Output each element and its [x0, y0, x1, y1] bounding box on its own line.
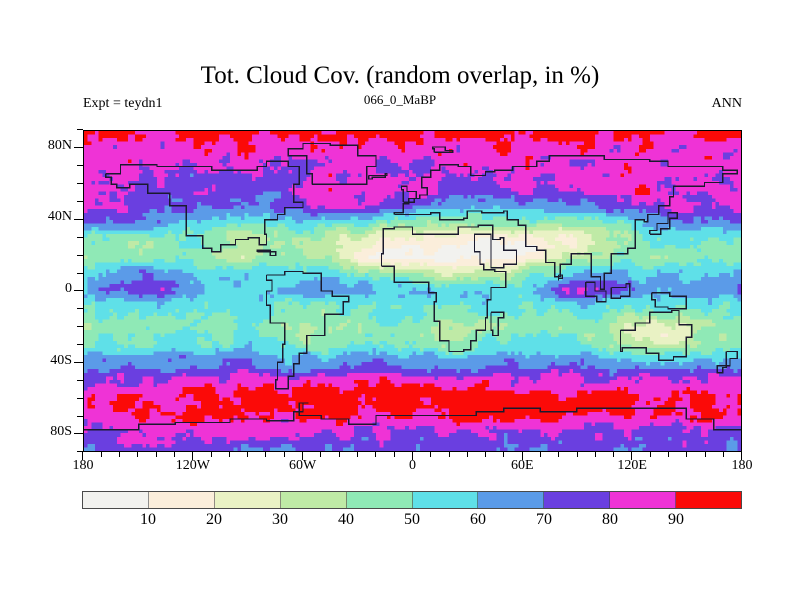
x-axis-minor-tick: [650, 452, 651, 457]
colorbar-tick-label: 70: [519, 511, 569, 529]
colorbar-tick-label: 60: [453, 511, 503, 529]
y-axis-minor-tick: [77, 255, 83, 256]
y-axis-tick-label: 80N: [26, 138, 72, 154]
colorbar-swatch-red: [676, 492, 741, 508]
x-axis-minor-tick: [668, 452, 669, 457]
x-axis-minor-tick: [723, 452, 724, 457]
x-axis-tick-label: 180: [707, 458, 777, 474]
x-axis-minor-tick: [540, 452, 541, 457]
x-axis-minor-tick: [211, 452, 212, 457]
colorbar-swatch-cream: [149, 492, 215, 508]
x-axis-minor-tick: [265, 452, 266, 457]
y-axis-minor-tick: [77, 165, 83, 166]
colorbar-swatch-pale-yellow-green: [215, 492, 281, 508]
y-axis-minor-tick: [77, 398, 83, 399]
y-axis-minor-tick: [77, 380, 83, 381]
y-axis-tick: [74, 433, 83, 434]
x-axis-minor-tick: [430, 452, 431, 457]
x-axis-minor-tick: [320, 452, 321, 457]
colorbar-tick-label: 50: [387, 511, 437, 529]
colorbar-swatch-blue: [478, 492, 544, 508]
y-axis-minor-tick: [77, 183, 83, 184]
y-axis-minor-tick: [77, 326, 83, 327]
colorbar-swatch-light-green: [281, 492, 347, 508]
x-axis-minor-tick: [577, 452, 578, 457]
y-axis-minor-tick: [77, 129, 83, 130]
y-axis-minor-tick: [77, 344, 83, 345]
x-axis-tick-label: 180: [48, 458, 118, 474]
x-axis-minor-tick: [558, 452, 559, 457]
colorbar-swatch-magenta: [610, 492, 676, 508]
x-axis-minor-tick: [686, 452, 687, 457]
x-axis-tick-label: 60E: [487, 458, 557, 474]
x-axis-minor-tick: [156, 452, 157, 457]
x-axis-minor-tick: [119, 452, 120, 457]
x-axis-tick-label: 120E: [597, 458, 667, 474]
x-axis-minor-tick: [339, 452, 340, 457]
colorbar-swatch-mint-green: [347, 492, 413, 508]
x-axis-minor-tick: [394, 452, 395, 457]
x-axis-minor-tick: [375, 452, 376, 457]
y-axis-tick-label: 40N: [26, 209, 72, 225]
y-axis-minor-tick: [77, 308, 83, 309]
colorbar-swatch-white: [83, 492, 149, 508]
x-axis-minor-tick: [174, 452, 175, 457]
x-axis-minor-tick: [229, 452, 230, 457]
x-axis-minor-tick: [101, 452, 102, 457]
colorbar-tick-label: 10: [123, 511, 173, 529]
x-axis-minor-tick: [137, 452, 138, 457]
x-axis-minor-tick: [503, 452, 504, 457]
y-axis-tick: [74, 219, 83, 220]
colorbar-tick-label: 30: [255, 511, 305, 529]
map-plot-area: [83, 130, 742, 452]
x-axis-minor-tick: [247, 452, 248, 457]
colorbar-swatch-cyan: [413, 492, 479, 508]
y-axis-minor-tick: [77, 416, 83, 417]
y-axis-minor-tick: [77, 273, 83, 274]
colorbar-tick-label: 90: [651, 511, 701, 529]
x-axis-tick-label: 60W: [268, 458, 338, 474]
figure-canvas: Tot. Cloud Cov. (random overlap, in %) E…: [0, 0, 800, 600]
cloud-cover-contour-map: [84, 131, 741, 451]
x-axis-minor-tick: [485, 452, 486, 457]
x-axis-tick-label: 120W: [158, 458, 228, 474]
colorbar-swatch-violet: [544, 492, 610, 508]
y-axis-tick-label: 40S: [26, 353, 72, 369]
y-axis-tick: [74, 290, 83, 291]
contour-fill-layer: [84, 131, 741, 451]
colorbar: [82, 491, 742, 509]
x-axis-minor-tick: [284, 452, 285, 457]
colorbar-tick-label: 20: [189, 511, 239, 529]
colorbar-tick-label: 80: [585, 511, 635, 529]
y-axis-minor-tick: [77, 237, 83, 238]
x-axis-minor-tick: [613, 452, 614, 457]
y-axis-minor-tick: [77, 201, 83, 202]
y-axis-tick-label: 0: [26, 281, 72, 297]
y-axis-tick-label: 80S: [26, 424, 72, 440]
x-axis-minor-tick: [449, 452, 450, 457]
colorbar-tick-label: 40: [321, 511, 371, 529]
x-axis-minor-tick: [705, 452, 706, 457]
season-label: ANN: [0, 96, 742, 112]
x-axis-minor-tick: [595, 452, 596, 457]
x-axis-minor-tick: [357, 452, 358, 457]
y-axis-tick: [74, 362, 83, 363]
x-axis-tick-label: 0: [378, 458, 448, 474]
page-title: Tot. Cloud Cov. (random overlap, in %): [0, 62, 800, 90]
x-axis-minor-tick: [467, 452, 468, 457]
y-axis-tick: [74, 147, 83, 148]
